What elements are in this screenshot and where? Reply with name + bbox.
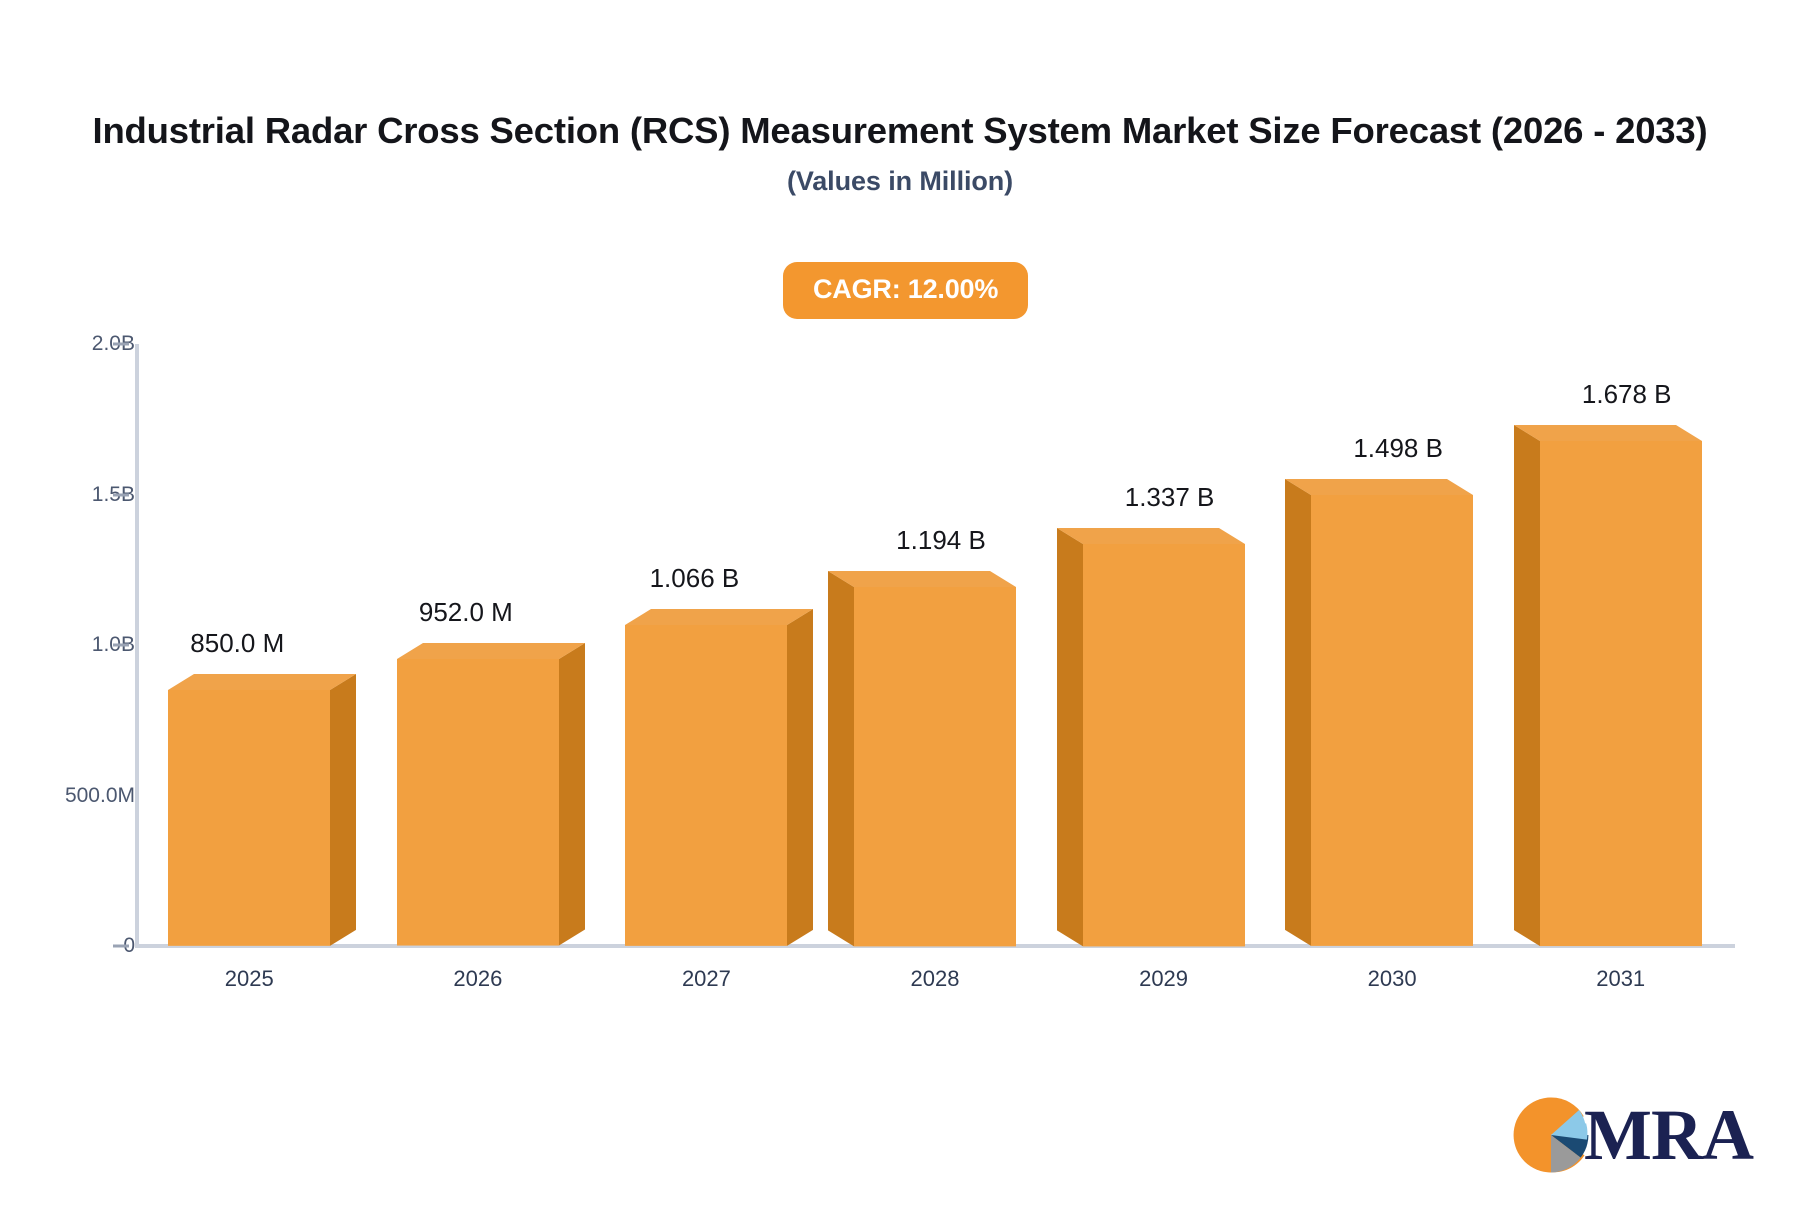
y-axis-tick-mark bbox=[113, 493, 129, 496]
bar-2026[interactable] bbox=[397, 643, 589, 950]
y-axis-line bbox=[135, 344, 139, 946]
bar-2028[interactable] bbox=[828, 571, 1020, 950]
chart-page: Industrial Radar Cross Section (RCS) Mea… bbox=[0, 0, 1800, 1212]
bar-side-face bbox=[1514, 425, 1540, 946]
bar-value-label: 1.498 B bbox=[1353, 433, 1443, 464]
bar-value-label: 1.194 B bbox=[896, 525, 986, 556]
bar-top-face bbox=[1057, 528, 1245, 544]
bar-top-face bbox=[397, 643, 585, 659]
pie-chart-icon bbox=[1512, 1096, 1590, 1174]
y-axis-tick-label: 500.0M bbox=[40, 784, 135, 808]
bar-side-face bbox=[1285, 479, 1311, 946]
bar-value-label: 1.337 B bbox=[1125, 482, 1215, 513]
bar-value-label: 1.678 B bbox=[1582, 379, 1672, 410]
x-axis-tick-label: 2025 bbox=[225, 966, 274, 992]
bar-2030[interactable] bbox=[1285, 479, 1477, 950]
bar-value-label: 850.0 M bbox=[190, 628, 284, 659]
bar-top-face bbox=[625, 609, 813, 625]
brand-logo: MRA bbox=[1512, 1096, 1753, 1174]
x-axis-tick-label: 2026 bbox=[453, 966, 502, 992]
bar-side-face bbox=[559, 643, 585, 946]
bar-2027[interactable] bbox=[625, 609, 817, 950]
plot-area: 0500.0M1.0B1.5B2.0B 20252026202720282029… bbox=[0, 0, 1800, 1212]
x-axis-tick-label: 2030 bbox=[1368, 966, 1417, 992]
bar-front-face bbox=[854, 587, 1016, 946]
x-axis-tick-label: 2028 bbox=[911, 966, 960, 992]
y-axis-tick-mark bbox=[113, 644, 129, 647]
bar-value-label: 952.0 M bbox=[419, 597, 513, 628]
x-axis-tick-label: 2027 bbox=[682, 966, 731, 992]
bar-top-face bbox=[1285, 479, 1473, 495]
x-axis-tick-label: 2029 bbox=[1139, 966, 1188, 992]
bar-top-face bbox=[1514, 425, 1702, 441]
bar-2029[interactable] bbox=[1057, 528, 1249, 950]
bar-front-face bbox=[397, 659, 559, 946]
bar-top-face bbox=[168, 674, 356, 690]
logo-wordmark: MRA bbox=[1584, 1101, 1753, 1169]
bar-2025[interactable] bbox=[168, 674, 360, 950]
bar-value-label: 1.066 B bbox=[650, 563, 740, 594]
x-axis-tick-label: 2031 bbox=[1596, 966, 1645, 992]
bar-front-face bbox=[1083, 544, 1245, 946]
bar-top-face bbox=[828, 571, 1016, 587]
bar-side-face bbox=[828, 571, 854, 946]
bar-side-face bbox=[330, 674, 356, 946]
y-axis-tick-mark bbox=[113, 343, 129, 346]
bar-2031[interactable] bbox=[1514, 425, 1706, 950]
bar-front-face bbox=[625, 625, 787, 946]
bar-side-face bbox=[787, 609, 813, 946]
bar-front-face bbox=[168, 690, 330, 946]
bar-front-face bbox=[1311, 495, 1473, 946]
bar-side-face bbox=[1057, 528, 1083, 946]
y-axis-tick-mark bbox=[113, 945, 129, 948]
bar-front-face bbox=[1540, 441, 1702, 946]
y-axis: 0500.0M1.0B1.5B2.0B bbox=[0, 0, 135, 1212]
